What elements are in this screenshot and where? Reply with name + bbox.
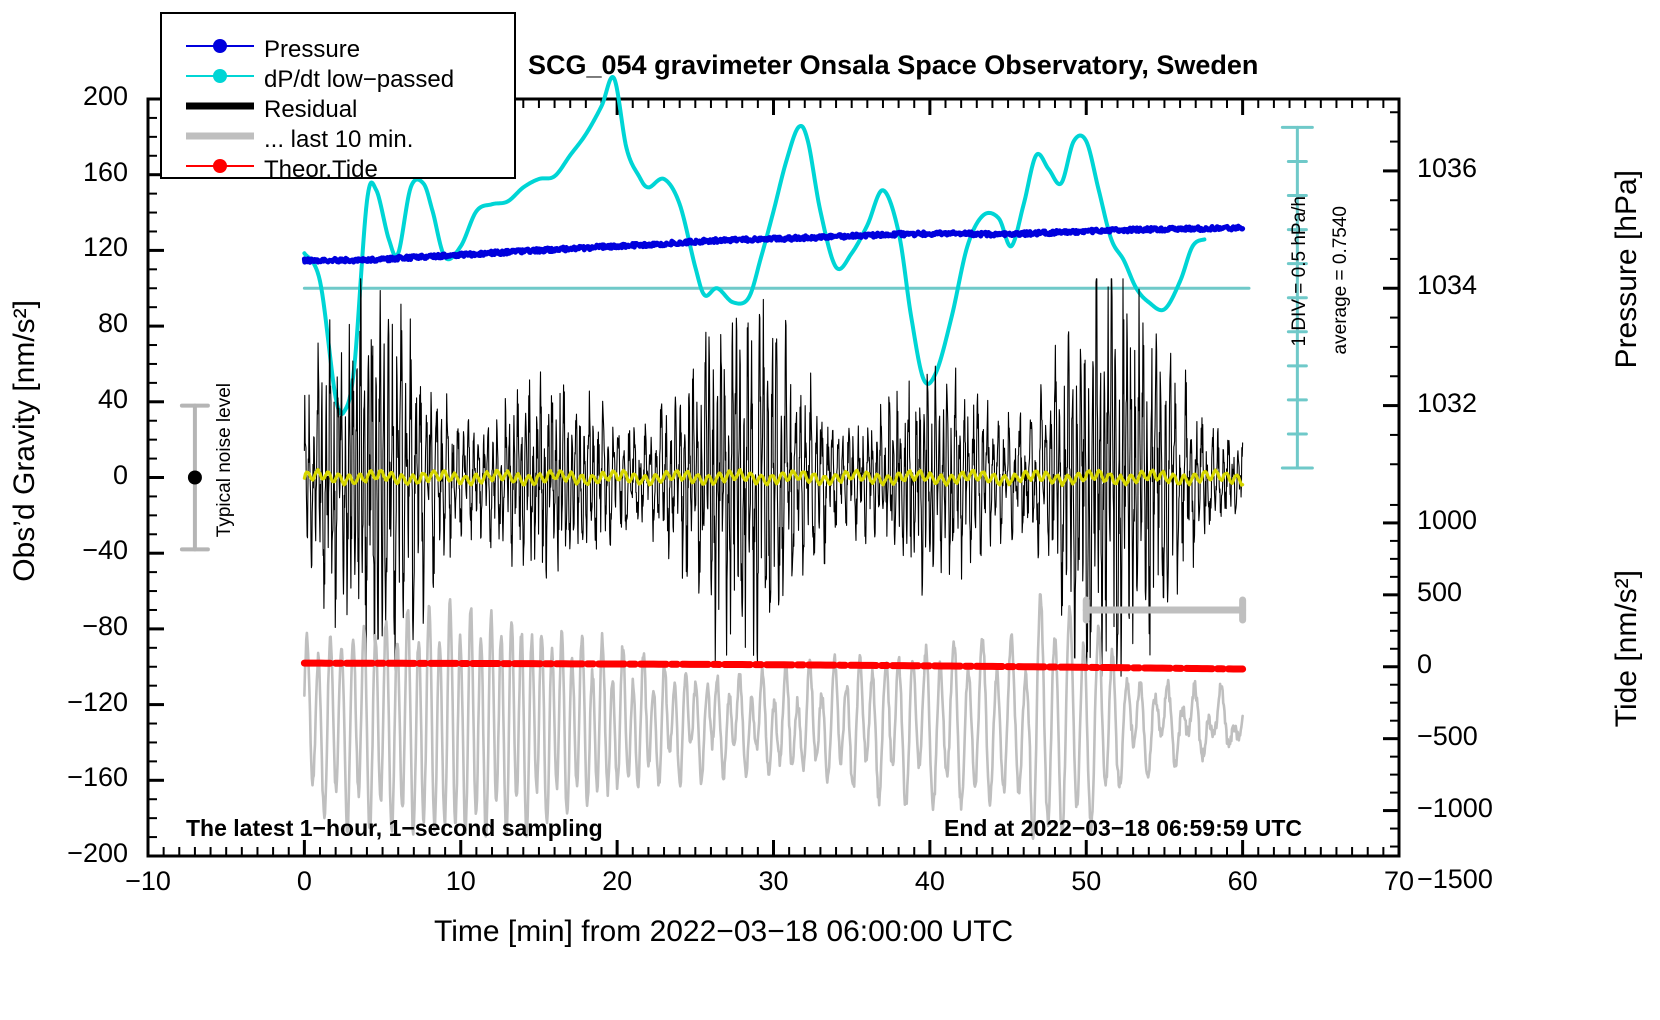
y-axis-right-tide-label: Tide [nm/s²] bbox=[1610, 570, 1644, 727]
page-title: SCG_054 gravimeter Onsala Space Observat… bbox=[528, 50, 1258, 81]
legend-label-residual: Residual bbox=[264, 96, 357, 124]
y-tick-tide-m1500: −1500 bbox=[1417, 864, 1493, 895]
x-tick-0: 0 bbox=[264, 866, 344, 897]
y-tick-left-80: 80 bbox=[0, 308, 128, 339]
y-tick-tide-0: 0 bbox=[1417, 649, 1432, 680]
footer-end-time: End at 2022−03−18 06:59:59 UTC bbox=[944, 815, 1302, 842]
y-tick-tide-1000: 1000 bbox=[1417, 505, 1477, 536]
legend-glyph-marker-0 bbox=[213, 39, 227, 53]
legend-glyph-marker-4 bbox=[213, 159, 227, 173]
pressure-series bbox=[304, 226, 1242, 262]
y-tick-left-m200: −200 bbox=[0, 838, 128, 869]
y-tick-left-40: 40 bbox=[0, 384, 128, 415]
typical-noise-marker bbox=[188, 471, 202, 485]
y-tick-left-m120: −120 bbox=[0, 687, 128, 718]
y-tick-left-160: 160 bbox=[0, 157, 128, 188]
legend-label-pressure: Pressure bbox=[264, 36, 360, 64]
y-tick-pressure-1032: 1032 bbox=[1417, 388, 1477, 419]
x-axis-label: Time [min] from 2022−03−18 06:00:00 UTC bbox=[434, 915, 1013, 949]
y-tick-left-200: 200 bbox=[0, 81, 128, 112]
y-tick-left-0: 0 bbox=[0, 460, 128, 491]
x-tick-60: 60 bbox=[1203, 866, 1283, 897]
y-tick-tide-500: 500 bbox=[1417, 577, 1462, 608]
x-tick-50: 50 bbox=[1046, 866, 1126, 897]
x-tick-30: 30 bbox=[734, 866, 814, 897]
legend-label-tide: Theor.Tide bbox=[264, 156, 378, 184]
scalebar-div-label: 1 DIV = 0.5 hPa/h bbox=[1289, 196, 1311, 347]
theoretical-tide-series bbox=[304, 663, 1242, 669]
x-tick-m10: −10 bbox=[108, 866, 188, 897]
y-tick-tide-m1000: −1000 bbox=[1417, 793, 1493, 824]
legend-label-last10: ... last 10 min. bbox=[264, 126, 413, 154]
y-axis-right-pressure-label: Pressure [hPa] bbox=[1610, 170, 1644, 368]
typical-noise-level-label: Typical noise level bbox=[214, 383, 236, 537]
legend: Pressure dP/dt low−passed Residual ... l… bbox=[160, 12, 516, 179]
x-tick-20: 20 bbox=[577, 866, 657, 897]
y-tick-left-120: 120 bbox=[0, 232, 128, 263]
footer-sampling-note: The latest 1−hour, 1−second sampling bbox=[186, 815, 603, 842]
y-tick-pressure-1034: 1034 bbox=[1417, 270, 1477, 301]
scalebar-average-label: average = 0.7540 bbox=[1330, 206, 1352, 354]
y-tick-pressure-1036: 1036 bbox=[1417, 153, 1477, 184]
legend-glyph-marker-1 bbox=[213, 69, 227, 83]
x-tick-40: 40 bbox=[890, 866, 970, 897]
y-tick-left-m40: −40 bbox=[0, 535, 128, 566]
chart-root: SCG_054 gravimeter Onsala Space Observat… bbox=[0, 0, 1660, 1020]
x-tick-10: 10 bbox=[421, 866, 501, 897]
y-tick-left-m80: −80 bbox=[0, 611, 128, 642]
legend-label-dpdt: dP/dt low−passed bbox=[264, 66, 454, 94]
y-tick-tide-m500: −500 bbox=[1417, 721, 1478, 752]
y-tick-left-m160: −160 bbox=[0, 762, 128, 793]
